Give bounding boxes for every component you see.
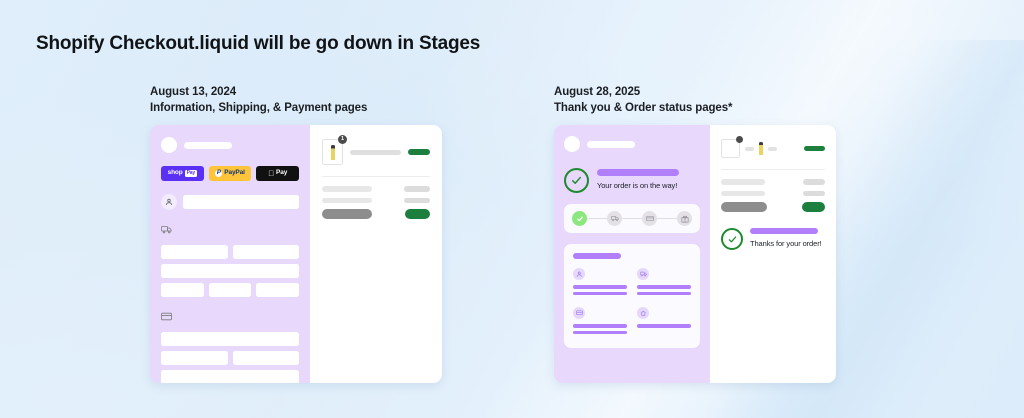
summary-line-total [322, 209, 430, 219]
order-summary-pane: 1 [310, 125, 442, 383]
summary-divider [721, 169, 825, 170]
name-on-card-field[interactable] [161, 370, 299, 383]
shipping-label-placeholder [322, 198, 372, 204]
shipping-address-fields [161, 245, 299, 297]
detail-shipping-cell [637, 268, 691, 298]
product-name-placeholder [350, 150, 401, 155]
apple-pay-button[interactable]:  Pay [256, 166, 299, 181]
details-grid [573, 268, 691, 337]
order-line-item: 1 [322, 139, 430, 165]
city-field[interactable] [161, 283, 204, 297]
shop-pay-label: shop [168, 170, 183, 177]
step-delivered-icon [677, 211, 692, 226]
detail-payment-cell [573, 307, 627, 337]
step-connector [622, 218, 642, 219]
bottle-product-image [759, 142, 763, 155]
thanks-text-group: Thanks for your order! [750, 228, 822, 248]
last-name-field[interactable] [233, 245, 300, 259]
fulfillment-stepper [564, 204, 700, 233]
quantity-badge [736, 136, 743, 143]
stage-2-date: August 28, 2025 [554, 86, 836, 98]
payment-fields [161, 332, 299, 383]
detail-billing-cell [637, 307, 691, 337]
store-logo-placeholder [564, 136, 580, 152]
payment-row-1 [161, 332, 299, 346]
card-expiry-field[interactable] [161, 351, 228, 365]
stage-2-order-status-mockup: Your order is on the way! [554, 125, 836, 383]
subtotal-label-placeholder [721, 179, 765, 185]
order-status-pane: Your order is on the way! [554, 125, 710, 383]
email-field[interactable] [183, 195, 299, 209]
store-logo-placeholder [161, 137, 177, 153]
shipping-row-1 [161, 245, 299, 259]
postal-code-field[interactable] [256, 283, 299, 297]
total-value-placeholder [802, 202, 825, 212]
payment-row-2 [161, 351, 299, 365]
total-value-placeholder [405, 209, 430, 219]
summary-divider [322, 176, 430, 177]
shipping-row-3 [161, 283, 299, 297]
paypal-button[interactable]: P PayPal [209, 166, 252, 181]
stage-2-subtitle: Thank you & Order status pages* [554, 102, 836, 114]
payment-line-1 [573, 324, 627, 328]
checkout-form-pane: shop Pay P PayPal  Pay [150, 125, 310, 383]
product-price-placeholder [804, 146, 825, 152]
first-name-field[interactable] [161, 245, 228, 259]
page-title: Shopify Checkout.liquid will be go down … [36, 33, 480, 55]
billing-line-1 [637, 324, 691, 328]
step-shipped-icon [607, 211, 622, 226]
quantity-badge: 1 [338, 135, 347, 144]
thanks-order-number-placeholder [750, 228, 818, 234]
shipping-row-2 [161, 264, 299, 278]
stage-2-block: August 28, 2025 Thank you & Order status… [554, 86, 836, 383]
store-header [564, 136, 700, 152]
stage-1-block: August 13, 2024 Information, Shipping, &… [150, 86, 442, 383]
thanks-check-icon [721, 228, 743, 250]
details-title-placeholder [573, 253, 621, 259]
order-details-card [564, 244, 700, 348]
payment-method-icon [573, 307, 585, 319]
summary-line-subtotal [721, 179, 825, 185]
step-connector [657, 218, 677, 219]
subtotal-label-placeholder [322, 186, 372, 192]
region-field[interactable] [209, 283, 252, 297]
order-number-placeholder [597, 169, 679, 176]
item-meta-right [768, 147, 777, 151]
shipping-value-placeholder [803, 191, 825, 197]
status-check-icon [564, 168, 589, 193]
payment-line-2 [573, 331, 627, 335]
thank-you-block: Thanks for your order! [721, 228, 825, 250]
step-connector [587, 218, 607, 219]
order-status-header: Your order is on the way! [564, 168, 700, 193]
status-text-group: Your order is on the way! [597, 168, 679, 190]
apple-pay-label: Pay [276, 170, 287, 177]
shop-pay-button[interactable]: shop Pay [161, 166, 204, 181]
person-icon [161, 194, 177, 210]
store-name-placeholder [184, 142, 232, 149]
payment-row-3 [161, 370, 299, 383]
thanks-message: Thanks for your order! [750, 239, 822, 248]
item-meta-left [745, 147, 754, 151]
contact-line-1 [573, 285, 627, 289]
card-number-field[interactable] [161, 332, 299, 346]
order-status-message: Your order is on the way! [597, 181, 679, 190]
shop-pay-chip: Pay [185, 170, 197, 177]
subtotal-value-placeholder [803, 179, 825, 185]
product-price-placeholder [408, 149, 430, 155]
paypal-label: PayPal [224, 170, 244, 177]
shipping-line-1 [637, 285, 691, 289]
total-label-placeholder [322, 209, 372, 219]
stage-1-subtitle: Information, Shipping, & Payment pages [150, 102, 442, 114]
product-thumbnail [721, 139, 740, 158]
shipping-value-placeholder [404, 198, 430, 204]
credit-card-icon [161, 308, 299, 326]
infographic-canvas: Shopify Checkout.liquid will be go down … [0, 0, 1024, 418]
apple-logo-icon:  [268, 170, 274, 178]
product-thumbnail: 1 [322, 139, 343, 165]
card-cvv-field[interactable] [233, 351, 300, 365]
contact-field-row [161, 194, 299, 210]
paypal-mark-icon: P [215, 170, 222, 177]
address-field[interactable] [161, 264, 299, 278]
billing-address-icon [637, 307, 649, 319]
stage-1-checkout-mockup: shop Pay P PayPal  Pay [150, 125, 442, 383]
shipping-truck-icon [161, 221, 299, 239]
order-line-item [721, 139, 825, 158]
detail-contact-cell [573, 268, 627, 298]
store-header [161, 137, 299, 153]
store-name-placeholder [587, 141, 635, 148]
shipping-line-2 [637, 292, 691, 296]
summary-line-total [721, 202, 825, 212]
order-summary-pane: Thanks for your order! [710, 125, 836, 383]
step-out-for-delivery-icon [642, 211, 657, 226]
contact-person-icon [573, 268, 585, 280]
bottle-product-image [331, 145, 335, 160]
shipping-label-placeholder [721, 191, 765, 197]
summary-line-shipping [322, 198, 430, 204]
summary-line-subtotal [322, 186, 430, 192]
summary-line-shipping [721, 191, 825, 197]
subtotal-value-placeholder [404, 186, 430, 192]
total-label-placeholder [721, 202, 767, 212]
shipping-address-icon [637, 268, 649, 280]
stage-1-date: August 13, 2024 [150, 86, 442, 98]
express-payment-buttons: shop Pay P PayPal  Pay [161, 166, 299, 181]
step-confirmed-icon [572, 211, 587, 226]
contact-line-2 [573, 292, 627, 296]
